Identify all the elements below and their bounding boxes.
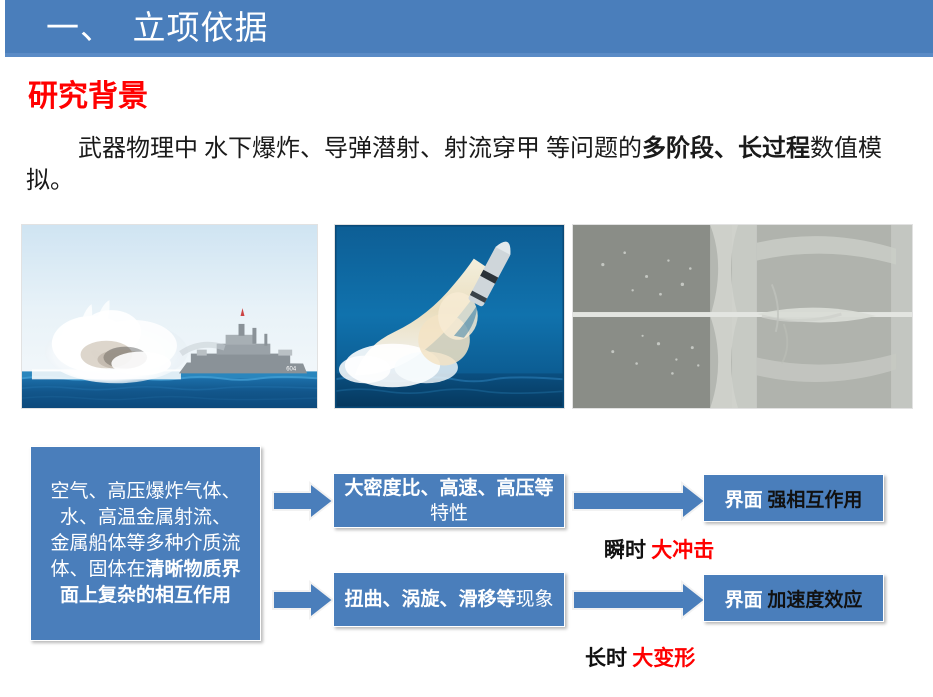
annotation-longterm-deformation: 长时 大变形: [585, 642, 695, 672]
diagram-middle-box-bottom[interactable]: 扭曲、涡旋、滑移等现象: [333, 572, 565, 627]
arrow-mid-top-to-right-top: [572, 480, 706, 522]
right-top-label: 界面: [725, 490, 763, 511]
annot-2-key: 长时: [585, 646, 627, 670]
photo-jet-penetration-radiograph: [572, 224, 913, 409]
arrow-left-to-mid-bottom: [272, 579, 334, 621]
mid-bot-plain: 现象: [516, 589, 554, 610]
section-title: 研究背景: [28, 78, 148, 116]
diagram-right-box-top[interactable]: 界面 强相互作用: [703, 474, 884, 522]
diagram-right-box-bottom[interactable]: 界面 加速度效应: [703, 574, 884, 622]
left-box-line-5-bold: 面上复杂的相互作用: [60, 585, 231, 606]
diagram-left-box[interactable]: 空气、高压爆炸气体、 水、高温金属射流、 金属船体等多种介质流 体、固体在清晰物…: [30, 446, 261, 641]
paragraph-emphasis: 多阶段、长过程: [642, 136, 810, 162]
slide-canvas: 一、 立项依据 研究背景 武器物理中 水下爆炸、导弹潜射、射流穿甲 等问题的多阶…: [0, 0, 933, 697]
mid-bot-bold: 扭曲、涡旋、滑移等: [344, 589, 515, 610]
annot-1-value: 大冲击: [651, 538, 714, 562]
left-box-line-2: 水、高温金属射流、: [50, 505, 240, 531]
left-box-line-4-bold: 清晰物质界: [146, 559, 241, 580]
mid-top-plain: 特性: [430, 503, 468, 524]
right-bot-label: 界面: [725, 590, 763, 611]
right-bot-value: 加速度效应: [767, 590, 862, 611]
arrow-left-to-mid-top: [272, 480, 334, 522]
diagram-middle-box-top[interactable]: 大密度比、高速、高压等 特性: [333, 473, 565, 528]
left-box-line-4-plain: 体、固体在: [50, 559, 145, 580]
annotation-instantaneous-impact: 瞬时 大冲击: [604, 534, 714, 564]
background-paragraph: 武器物理中 水下爆炸、导弹潜射、射流穿甲 等问题的多阶段、长过程数值模拟。: [26, 133, 912, 197]
paragraph-lead: 武器物理中 水下爆炸、导弹潜射、射流穿甲 等问题的: [78, 136, 642, 162]
annot-1-key: 瞬时: [604, 538, 646, 562]
photo-underwater-explosion: 604: [21, 224, 318, 409]
left-box-line-1: 空气、高压爆炸气体、: [50, 479, 240, 505]
left-box-line-3: 金属船体等多种介质流: [50, 531, 240, 557]
right-top-value: 强相互作用: [767, 490, 862, 511]
annot-2-value: 大变形: [632, 646, 695, 670]
page-title: 一、 立项依据: [46, 4, 269, 54]
photo-submarine-launched-missile: [334, 224, 565, 409]
svg-text:604: 604: [286, 366, 297, 372]
mid-top-bold: 大密度比、高速、高压等: [344, 478, 553, 499]
arrow-mid-bottom-to-right-bottom: [572, 579, 706, 621]
